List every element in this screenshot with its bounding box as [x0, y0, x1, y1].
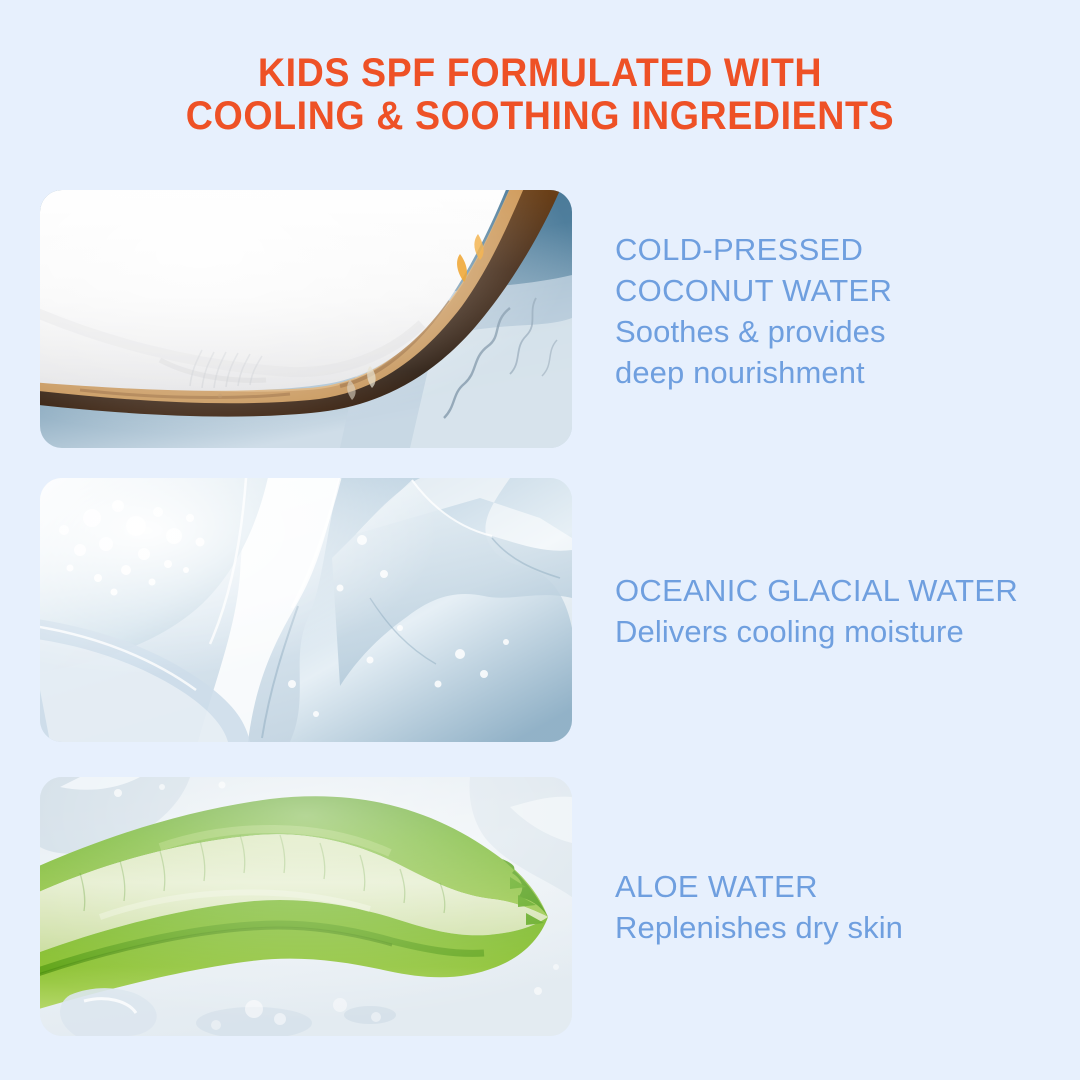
infographic-page: KIDS SPF FORMULATED WITH COOLING & SOOTH…: [0, 0, 1080, 1080]
ingredient-row-aloe: ALOE WATER Replenishes dry skin: [0, 777, 1080, 1036]
glacial-ice-photo: [40, 478, 572, 742]
ingredient-text-glacial-water: OCEANIC GLACIAL WATER Delivers cooling m…: [615, 570, 1045, 652]
ingredient-title-line-1: COLD-PRESSED: [615, 229, 1045, 270]
coconut-photo: [40, 190, 572, 448]
ingredient-title-line-1: OCEANIC GLACIAL WATER: [615, 570, 1045, 611]
aloe-photo: [40, 777, 572, 1036]
ingredient-desc-line-1: Delivers cooling moisture: [615, 611, 1045, 652]
ingredient-text-coconut: COLD-PRESSED COCONUT WATER Soothes & pro…: [615, 229, 1045, 393]
ingredient-title-line-2: COCONUT WATER: [615, 270, 1045, 311]
page-title: KIDS SPF FORMULATED WITH COOLING & SOOTH…: [32, 52, 1047, 138]
ingredient-desc-line-1: Soothes & provides: [615, 311, 1045, 352]
headline-line-1: KIDS SPF FORMULATED WITH: [32, 52, 1047, 95]
ingredient-text-aloe: ALOE WATER Replenishes dry skin: [615, 866, 1045, 948]
headline-line-2: COOLING & SOOTHING INGREDIENTS: [32, 95, 1047, 138]
ingredient-row-coconut: COLD-PRESSED COCONUT WATER Soothes & pro…: [0, 190, 1080, 448]
ingredient-title-line-1: ALOE WATER: [615, 866, 1045, 907]
ingredient-desc-line-1: Replenishes dry skin: [615, 907, 1045, 948]
ingredient-row-glacial-water: OCEANIC GLACIAL WATER Delivers cooling m…: [0, 478, 1080, 742]
ingredient-desc-line-2: deep nourishment: [615, 352, 1045, 393]
